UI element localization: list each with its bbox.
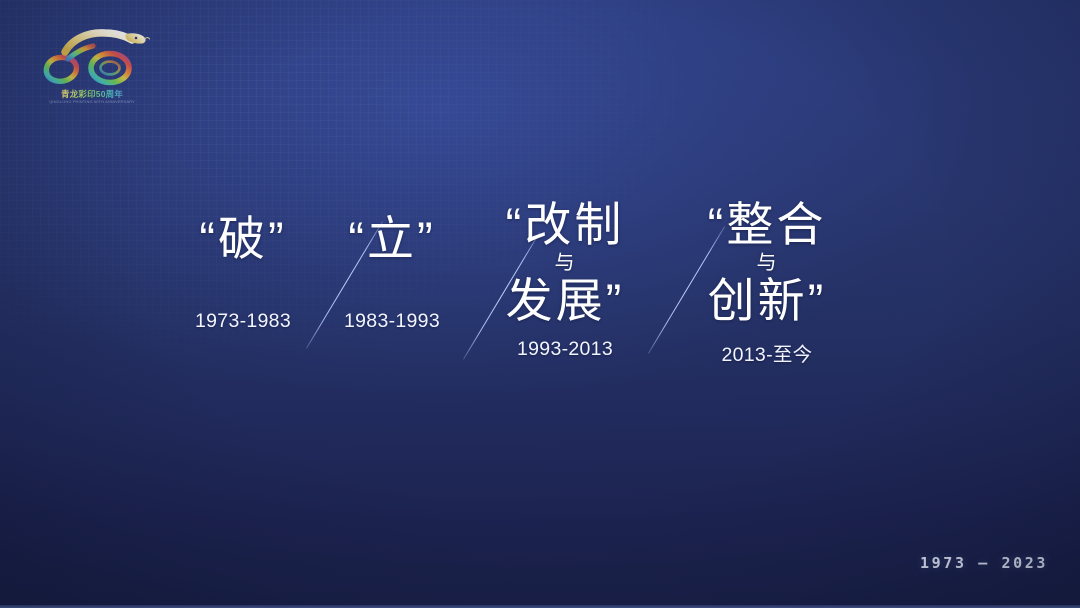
milestone-heading-line: “立”: [330, 214, 454, 264]
timeline: “破” 1973-1983 “立” 1983-1993 “改制 与 发展” 19…: [0, 0, 1080, 608]
timeline-milestone-gaizhi-fazhan[interactable]: “改制 与 发展” 1993-2013: [492, 200, 638, 361]
milestone-years: 1973-1983: [178, 310, 308, 333]
milestone-heading: “破”: [178, 214, 308, 264]
footer-year-range: 1973 — 2023: [920, 554, 1048, 572]
milestone-heading-line: 发展”: [492, 276, 638, 326]
milestone-years: 1983-1993: [330, 310, 454, 333]
milestone-heading-line: “整合: [692, 200, 842, 250]
logo-subcaption: QINGLONG PRINTING 50TH ANNIVERSARY: [40, 99, 144, 104]
milestone-heading-line: 与: [492, 250, 638, 276]
milestone-heading-line: “破”: [178, 214, 308, 264]
milestone-years: 1993-2013: [492, 338, 638, 361]
milestone-heading: “改制 与 发展”: [492, 200, 638, 326]
timeline-milestone-zhenghe-chuangxin[interactable]: “整合 与 创新” 2013-至今: [692, 200, 842, 367]
milestone-years: 2013-至今: [692, 338, 842, 367]
milestone-heading: “立”: [330, 214, 454, 264]
dragon-fifty-icon: [34, 22, 150, 88]
milestone-heading: “整合 与 创新”: [692, 200, 842, 326]
milestone-heading-line: “改制: [492, 200, 638, 250]
milestone-heading-line: 与: [692, 250, 842, 276]
timeline-milestone-li[interactable]: “立” 1983-1993: [330, 214, 454, 333]
timeline-milestone-po[interactable]: “破” 1973-1983: [178, 214, 308, 333]
milestone-heading-line: 创新”: [692, 276, 842, 326]
anniversary-timeline-slide: 青龙彩印50周年 QINGLONG PRINTING 50TH ANNIVERS…: [0, 0, 1080, 608]
anniversary-logo: 青龙彩印50周年 QINGLONG PRINTING 50TH ANNIVERS…: [34, 22, 150, 110]
